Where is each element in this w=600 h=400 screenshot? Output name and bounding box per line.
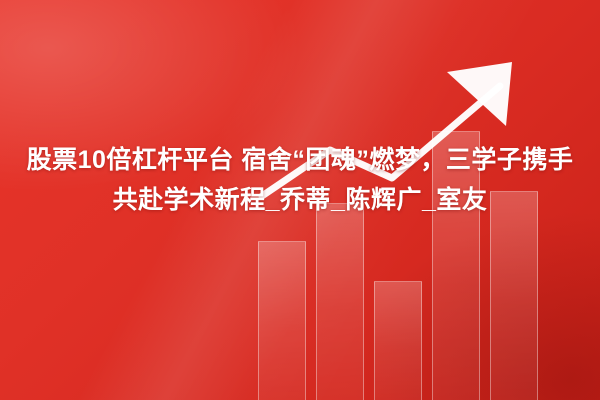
page-title: 股票10倍杠杆平台 宿舍“团魂”燃梦，三学子携手 共赴学术新程_乔蒂_陈辉广_室… [14, 140, 586, 220]
chart-bar [258, 241, 306, 400]
promo-banner: 股票10倍杠杆平台 宿舍“团魂”燃梦，三学子携手 共赴学术新程_乔蒂_陈辉广_室… [0, 0, 600, 400]
chart-bar [490, 191, 538, 400]
chart-bar [316, 203, 364, 400]
chart-bar [374, 281, 422, 400]
banner-text-block: 股票10倍杠杆平台 宿舍“团魂”燃梦，三学子携手 共赴学术新程_乔蒂_陈辉广_室… [0, 140, 600, 220]
